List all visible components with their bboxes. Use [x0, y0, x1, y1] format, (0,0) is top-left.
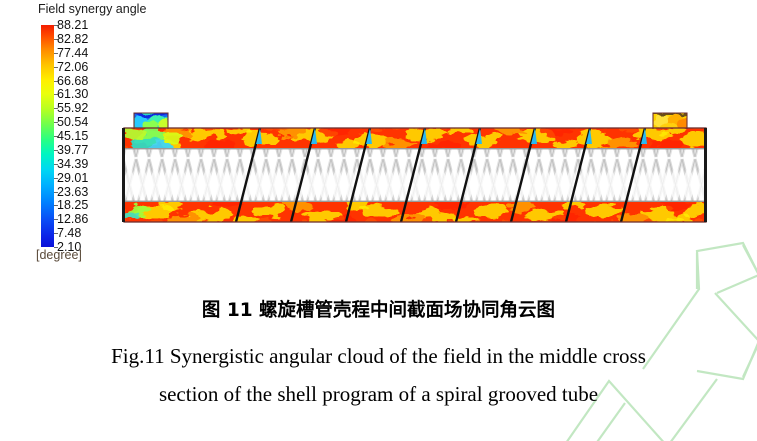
colorbar-tick-label: 50.54: [57, 116, 88, 129]
colorbar-tick-label: 61.30: [57, 88, 88, 101]
colorbar-labels: 88.2182.8277.4472.0666.6861.3055.9250.54…: [57, 22, 117, 254]
legend-title: Field synergy angle: [38, 2, 146, 16]
colorbar-unit-label: [degree]: [36, 248, 82, 262]
colorbar-tick-label: 7.48: [57, 227, 81, 240]
colorbar-tick-label: 12.86: [57, 213, 88, 226]
figure-page: Field synergy angle 88.2182.8277.4472.06…: [0, 0, 757, 441]
colorbar-tick-label: 39.77: [57, 144, 88, 157]
colorbar: [41, 25, 54, 247]
colorbar-tick-label: 72.06: [57, 61, 88, 74]
colorbar-tick-label: 82.82: [57, 33, 88, 46]
colorbar-tick-label: 66.68: [57, 75, 88, 88]
colorbar-tick-label: 34.39: [57, 158, 88, 171]
colorbar-tick-label: 88.21: [57, 19, 88, 32]
caption-chinese: 图 11 螺旋槽管壳程中间截面场协同角云图: [0, 296, 757, 322]
contour-figure: Field synergy angle 88.2182.8277.4472.06…: [0, 0, 757, 280]
colorbar-tick-label: 18.25: [57, 199, 88, 212]
shell-body: [123, 126, 710, 226]
colorbar-tick-label: 77.44: [57, 47, 88, 60]
spiral-grooved-tube: [124, 148, 706, 202]
caption-english-line1: Fig.11 Synergistic angular cloud of the …: [0, 344, 757, 369]
colorbar-tick-label: 29.01: [57, 172, 88, 185]
colorbar-gradient: [41, 25, 54, 247]
right-tubesheet: [704, 128, 707, 222]
left-tubesheet: [122, 128, 125, 222]
colorbar-tick-label: 55.92: [57, 102, 88, 115]
colorbar-tick-label: 45.15: [57, 130, 88, 143]
caption-english-line2: section of the shell program of a spiral…: [0, 382, 757, 407]
contour-plot: [110, 104, 710, 230]
colorbar-tick-label: 23.63: [57, 186, 88, 199]
